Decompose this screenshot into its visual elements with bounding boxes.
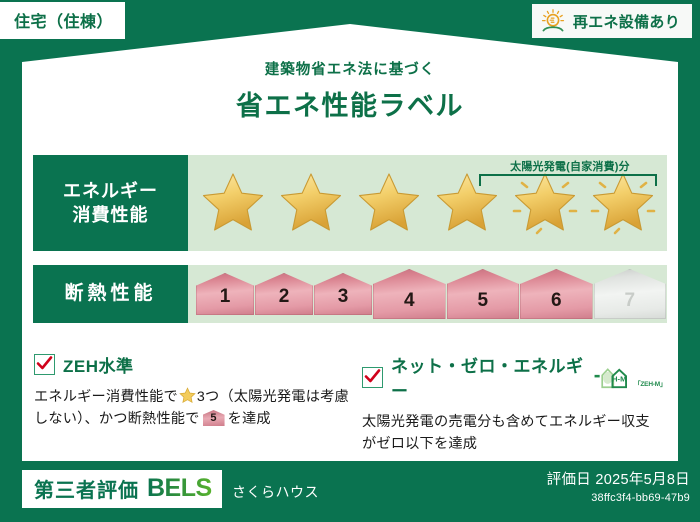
criteria-net-zero: ネット・ゼロ・エネルギー H-M 「ZEH-M」 太陽光発電の売電分も含めてエネ… <box>362 352 664 455</box>
energy-performance-label: エネルギー 消費性能 <box>33 155 188 251</box>
inline-insulation-badge: 5 <box>203 410 225 426</box>
insulation-level-value: 3 <box>338 286 349 315</box>
label-footer: 第三者評価 BELS さくらハウス 評価日 2025年5月8日 38ffc3f4… <box>0 462 700 522</box>
insulation-performance-label: 断熱性能 <box>33 265 188 323</box>
star-icon <box>194 171 272 235</box>
insulation-level-value: 6 <box>551 290 562 319</box>
insulation-level-badge: 6 <box>520 269 593 319</box>
insulation-level-badge: 1 <box>196 273 254 315</box>
category-tag: 住宅（住棟） <box>0 2 125 39</box>
title-main: 省エネ性能ラベル <box>0 84 700 123</box>
criteria-zeh: ZEH水準 エネルギー消費性能で3つ（太陽光発電は考慮しない）、かつ断熱性能で5… <box>34 352 354 430</box>
check-icon <box>34 354 55 375</box>
star-icon <box>272 171 350 235</box>
criteria-net-zero-body: 太陽光発電の売電分も含めてエネルギー収支がゼロ以下を達成 <box>362 411 664 455</box>
insulation-level-badge: 5 <box>447 269 520 319</box>
insulation-performance-value: 1234567 <box>188 265 667 323</box>
criteria-zeh-body: エネルギー消費性能で3つ（太陽光発電は考慮しない）、かつ断熱性能で5を達成 <box>34 386 354 430</box>
evaluation-info: 評価日 2025年5月8日 38ffc3f4-bb69-47b9 <box>547 468 690 504</box>
title-subtitle: 建築物省エネ法に基づく <box>0 58 700 79</box>
evaluation-id: 38ffc3f4-bb69-47b9 <box>547 492 690 504</box>
insulation-level-badge: 7 <box>594 269 667 319</box>
insulation-performance-row: 断熱性能 1234567 <box>33 265 667 323</box>
energy-label-line2: 消費性能 <box>73 203 149 227</box>
svg-text:H-M: H-M <box>612 374 626 383</box>
energy-label-root: 住宅（住棟） 再エネ設備あり 建築物省エネ法 <box>0 0 700 522</box>
inline-star-icon <box>179 387 196 404</box>
evaluation-date: 評価日 2025年5月8日 <box>547 468 690 489</box>
label-title-block: 建築物省エネ法に基づく 省エネ性能ラベル <box>0 58 700 123</box>
solar-note-label: 太陽光発電(自家消費)分 <box>479 158 661 174</box>
criteria-net-zero-header: ネット・ゼロ・エネルギー H-M 「ZEH-M」 <box>362 352 664 402</box>
energy-performance-row: エネルギー 消費性能 太陽光発電(自家消費)分 <box>33 155 667 251</box>
criteria-zeh-header: ZEH水準 <box>34 352 354 377</box>
inline-insulation-badge-value: 5 <box>203 410 225 426</box>
criteria-zeh-title: ZEH水準 <box>63 352 134 377</box>
check-icon <box>362 367 383 388</box>
energy-label-line1: エネルギー <box>63 179 158 203</box>
insulation-level-scale: 1234567 <box>188 265 667 323</box>
insulation-level-value: 2 <box>279 286 290 315</box>
criteria-zeh-text-3: を達成 <box>228 411 271 427</box>
zeh-m-logo-caption: 「ZEH-M」 <box>634 378 664 391</box>
star-icon <box>350 171 428 235</box>
insulation-level-value: 5 <box>477 290 488 319</box>
vendor-name: さくらハウス <box>232 482 319 502</box>
zeh-m-logo: H-M 「ZEH-M」 <box>592 363 664 391</box>
solar-sun-icon <box>540 9 566 33</box>
renewable-badge-label: 再エネ設備あり <box>573 11 680 32</box>
zeh-m-house-icon: H-M <box>592 363 633 391</box>
insulation-level-value: 1 <box>220 286 231 315</box>
criteria-net-zero-title: ネット・ゼロ・エネルギー <box>391 352 586 402</box>
insulation-level-value: 7 <box>624 290 635 319</box>
insulation-level-badge: 3 <box>314 273 372 315</box>
criteria-zeh-text-1: エネルギー消費性能で <box>34 389 178 405</box>
insulation-level-badge: 2 <box>255 273 313 315</box>
bels-certification-mark: 第三者評価 BELS <box>22 470 222 508</box>
solar-bracket <box>479 174 657 186</box>
renewable-equipment-badge: 再エネ設備あり <box>532 4 692 38</box>
insulation-level-value: 4 <box>404 290 415 319</box>
insulation-level-badge: 4 <box>373 269 446 319</box>
bels-jp-label: 第三者評価 <box>34 474 139 503</box>
bels-en-label: BELS <box>147 474 212 503</box>
energy-performance-value: 太陽光発電(自家消費)分 <box>188 155 667 251</box>
